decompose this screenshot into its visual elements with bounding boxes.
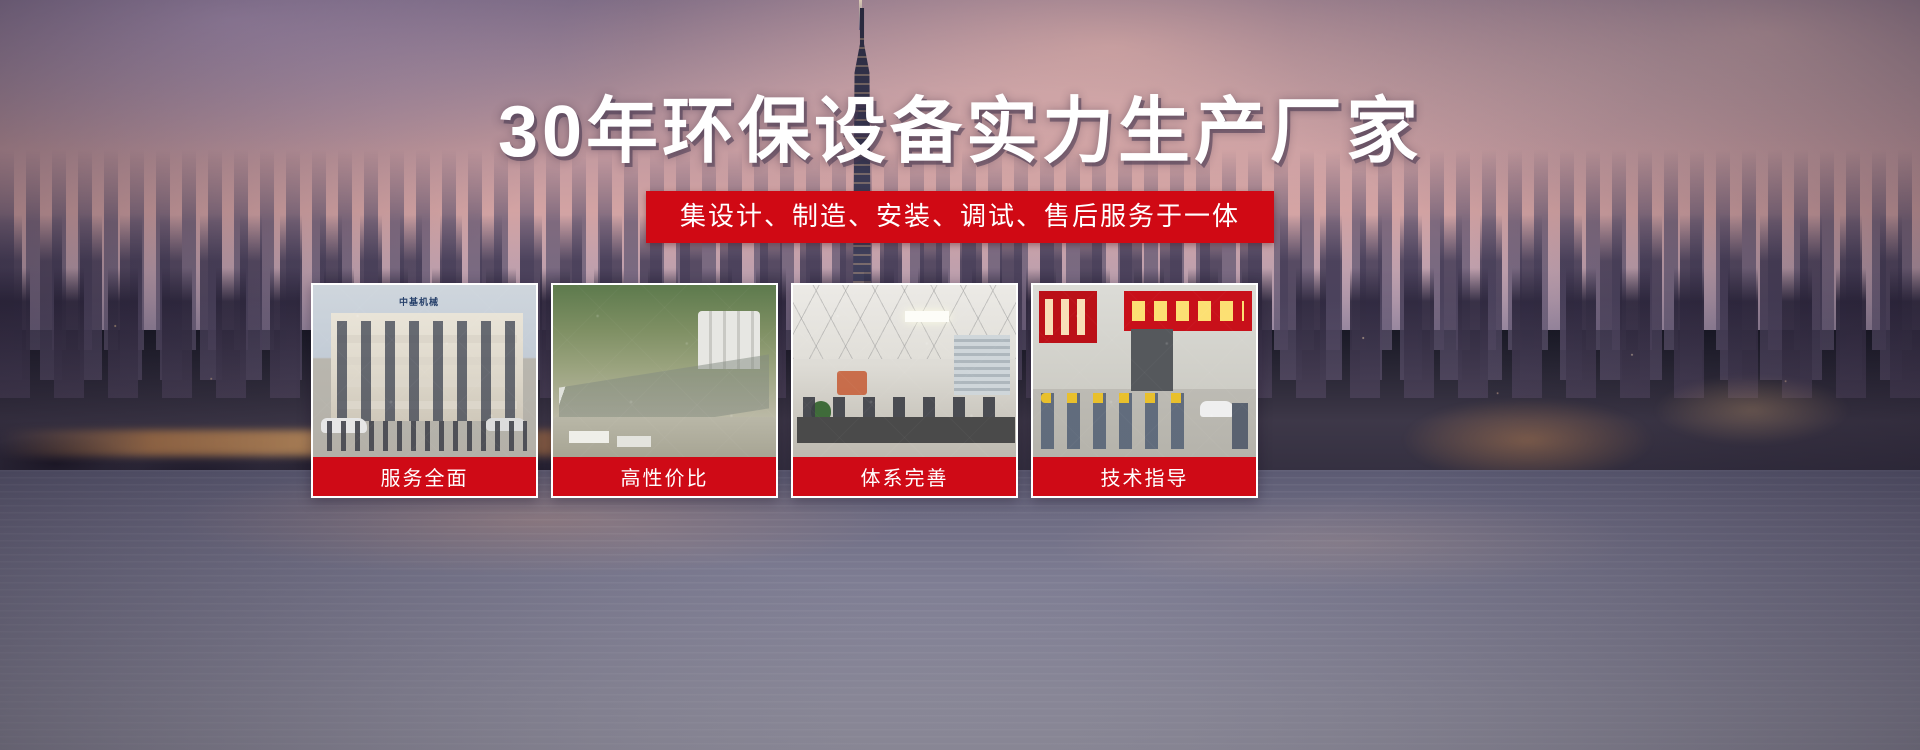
- parked-car: [1200, 401, 1234, 417]
- card-label: 体系完善: [793, 457, 1016, 496]
- banner-headline: 30年环保设备实力生产厂家: [0, 96, 1920, 168]
- feature-card[interactable]: 高性价比: [551, 283, 778, 498]
- company-sign-text: 中基机械: [373, 295, 465, 308]
- card-photo: [553, 285, 776, 457]
- truck: [617, 436, 651, 447]
- red-banner-sign: [1124, 291, 1252, 331]
- card-photo: 中基机械: [313, 285, 536, 457]
- window-blinds: [954, 335, 1010, 395]
- card-photo: [1033, 285, 1256, 457]
- wall-decal: [837, 371, 867, 395]
- card-label: 技术指导: [1033, 457, 1256, 496]
- feature-card[interactable]: 体系完善: [791, 283, 1018, 498]
- feature-card[interactable]: 中基机械 服务全面: [311, 283, 538, 498]
- building-facade: [331, 313, 523, 421]
- supervisor-figure: [1232, 403, 1248, 449]
- desk-row: [797, 417, 1015, 443]
- banner-subtitle-badge: 集设计、制造、安装、调试、售后服务于一体: [646, 191, 1274, 243]
- card-photo: [793, 285, 1016, 457]
- hero-banner: 30年环保设备实力生产厂家 集设计、制造、安装、调试、售后服务于一体 中基机械 …: [0, 0, 1920, 750]
- feature-card-list: 中基机械 服务全面 高性价比: [311, 283, 1561, 498]
- truck: [569, 431, 609, 443]
- banner-content: 30年环保设备实力生产厂家 集设计、制造、安装、调试、售后服务于一体 中基机械 …: [0, 0, 1920, 750]
- card-label: 高性价比: [553, 457, 776, 496]
- workshop-door: [1131, 329, 1173, 391]
- ceiling-light: [905, 311, 949, 322]
- staff-lineup: [327, 421, 527, 451]
- feature-card[interactable]: 技术指导: [1031, 283, 1258, 498]
- card-label: 服务全面: [313, 457, 536, 496]
- banner-subtitle-row: 集设计、制造、安装、调试、售后服务于一体: [0, 191, 1920, 243]
- hard-hat-row: [1041, 393, 1191, 403]
- wall-slogan-panel: [1039, 291, 1097, 343]
